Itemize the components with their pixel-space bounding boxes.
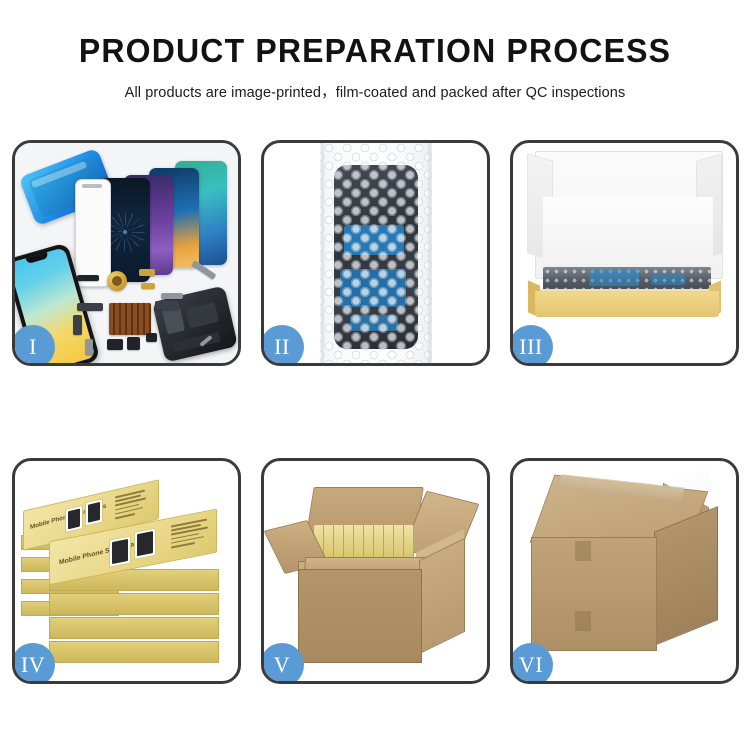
step-badge-2: II [264,325,304,363]
box-screen-graphic-4 [134,528,156,560]
header: PRODUCT PREPARATION PROCESS All products… [0,0,750,102]
box-screen-graphic-3 [109,535,131,567]
step-panel-bubble-wrap: II [261,140,490,366]
step-panel-open-carton: V [261,458,490,684]
foam-liner [543,197,713,273]
step-image-phone-parts: I [15,143,238,363]
stacked-box-front-3 [49,593,217,613]
step-image-sealed-carton: VI [513,461,736,681]
wrap-seam-left [320,143,325,363]
step-panel-sealed-carton: VI [510,458,739,684]
part-camera-module [107,339,123,350]
page-title: PRODUCT PREPARATION PROCESS [11,34,739,69]
page-subtitle: All products are image-printed，film-coat… [0,81,750,102]
stacked-box-front-4 [49,617,217,637]
product-preparation-infographic: PRODUCT PREPARATION PROCESS All products… [0,0,750,750]
stacked-box-front-5 [49,641,217,661]
carton-body-front [298,569,422,663]
box-screen-graphic-1 [65,505,83,533]
step-badge-3: III [513,325,553,363]
step-panel-open-mailer: III [510,140,739,366]
part-button-module [127,337,140,350]
screw-tray-icon [109,303,151,335]
step-image-stacked-boxes: Mobile Phone Spare Parts [15,461,238,681]
sealed-carton-face-left [531,537,657,651]
phone-screen-fan [71,157,231,277]
part-flex-cable-2 [141,283,155,289]
part-bracket-3 [155,301,179,310]
sealed-carton-face-right [654,506,718,646]
step-image-open-carton: V [264,461,487,681]
wrap-seam-right [427,143,432,363]
step-image-open-mailer: III [513,143,736,363]
part-sim-tray [85,339,93,355]
box-screen-graphic-2 [85,498,103,526]
part-shield-1 [161,293,183,299]
box-stack: Mobile Phone Spare Parts [21,475,238,675]
part-bracket-2 [73,315,82,335]
steps-grid: I II [12,140,738,684]
step-panel-stacked-boxes: Mobile Phone Spare Parts [12,458,241,684]
carton-seam-tab-bottom [575,611,591,631]
part-flex-cable-1 [139,269,155,276]
part-bracket-1 [77,303,103,311]
part-connector [77,275,99,281]
part-vibrator [146,333,157,342]
bubble-highlights [320,143,432,363]
box-front-panel [535,291,719,317]
speaker-module-icon [107,271,127,291]
phone-screen-blank [75,179,111,287]
step-panel-phone-parts: I [12,140,241,366]
carton-seam-tab-top [575,541,591,561]
step-image-bubble-wrap: II [264,143,487,363]
